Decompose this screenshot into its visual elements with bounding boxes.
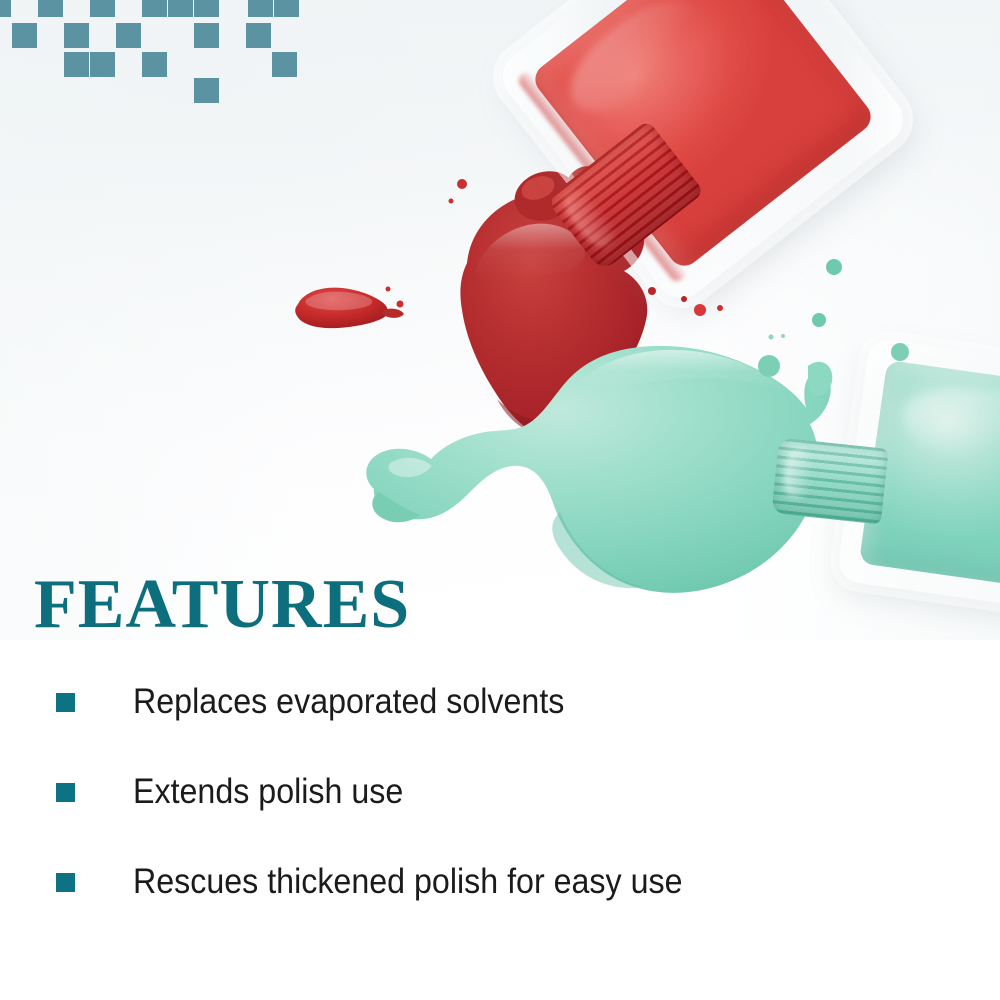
pixel-square <box>12 23 37 48</box>
pixel-square <box>194 0 219 17</box>
feature-text: Rescues thickened polish for easy use <box>133 862 682 902</box>
pixel-square <box>0 0 11 17</box>
features-section: FEATURES Replaces evaporated solvents Ex… <box>0 560 1000 1000</box>
pixel-square <box>90 52 115 77</box>
page-title: FEATURES <box>34 570 410 640</box>
pixel-square <box>38 0 63 17</box>
pixel-square <box>142 52 167 77</box>
list-item: Rescues thickened polish for easy use <box>56 858 956 906</box>
pixel-square <box>168 0 193 17</box>
pixel-square <box>64 23 89 48</box>
pixel-square <box>64 52 89 77</box>
bullet-square-icon <box>56 873 75 892</box>
list-item: Replaces evaporated solvents <box>56 678 956 726</box>
pixel-square-pattern <box>0 0 330 130</box>
list-item: Extends polish use <box>56 768 956 816</box>
feature-list: Replaces evaporated solvents Extends pol… <box>56 678 956 948</box>
pixel-square <box>272 52 297 77</box>
pixel-square <box>194 78 219 103</box>
pixel-square <box>116 23 141 48</box>
pixel-square <box>90 0 115 17</box>
pixel-square <box>194 23 219 48</box>
pixel-square <box>142 0 167 17</box>
pixel-square <box>274 0 299 17</box>
feature-text: Replaces evaporated solvents <box>133 682 564 722</box>
bullet-square-icon <box>56 693 75 712</box>
feature-text: Extends polish use <box>133 772 403 812</box>
pixel-square <box>248 0 273 17</box>
pixel-square <box>246 23 271 48</box>
bullet-square-icon <box>56 783 75 802</box>
product-feature-graphic: FEATURES Replaces evaporated solvents Ex… <box>0 0 1000 1000</box>
